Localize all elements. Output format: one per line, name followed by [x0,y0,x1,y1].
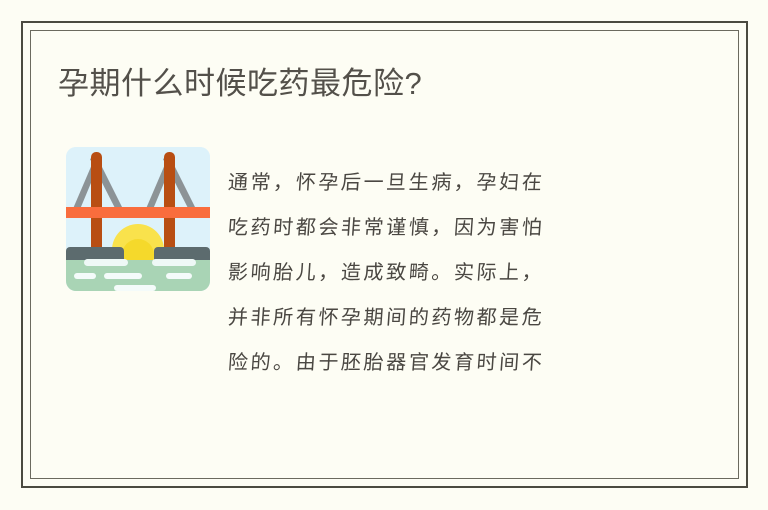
bridge-sunset-icon [66,147,210,291]
body-line: 影响胎儿，造成致畸。实际上， [226,250,649,295]
article-thumbnail [66,147,210,291]
body-line: 通常，怀孕后一旦生病，孕妇在 [226,160,649,205]
article-card-page: 孕期什么时候吃药最危险? [0,0,768,510]
article-body-text: 通常，怀孕后一旦生病，孕妇在 吃药时都会非常谨慎，因为害怕 影响胎儿，造成致畸。… [228,160,648,385]
article-content: 孕期什么时候吃药最危险? [0,0,768,510]
page-title: 孕期什么时候吃药最危险? [58,63,688,105]
body-line: 并非所有怀孕期间的药物都是危 [226,295,649,340]
body-line: 吃药时都会非常谨慎，因为害怕 [226,205,649,250]
body-line: 险的。由于胚胎器官发育时间不 [226,340,649,385]
